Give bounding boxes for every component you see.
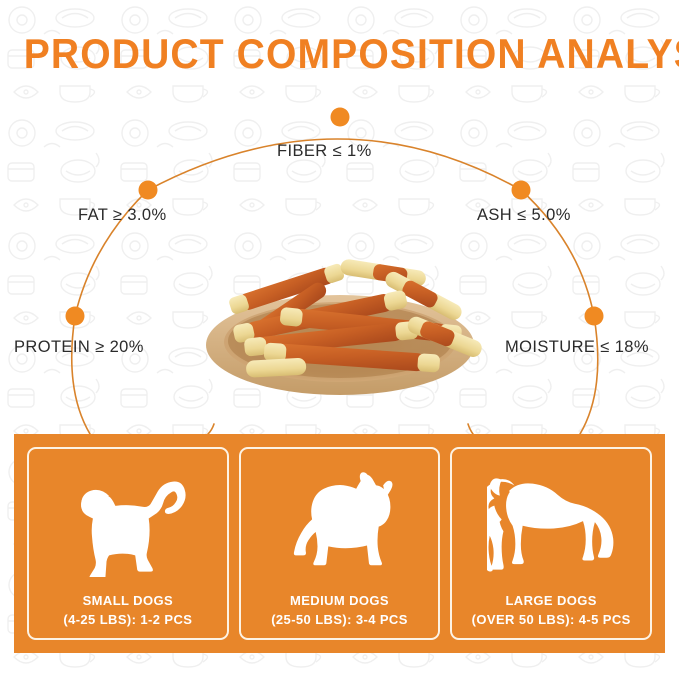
nutrient-label-fat: FAT ≥ 3.0% (78, 206, 167, 225)
nutrient-label-protein: PROTEIN ≥ 20% (14, 338, 144, 357)
page-title: PRODUCT COMPOSITION ANALYSIS (24, 30, 655, 78)
small-dog-icon (29, 449, 227, 591)
product-composition-infographic: PRODUCT COMPOSITION ANALYSIS (0, 0, 679, 679)
large-dog-icon (452, 449, 650, 591)
feeding-card-large-title: LARGE DOGS (505, 593, 596, 608)
feeding-card-small-text: SMALL DOGS (4-25 LBS): 1-2 PCS (63, 591, 192, 629)
feeding-card-medium: MEDIUM DOGS (25-50 LBS): 3-4 PCS (239, 447, 441, 640)
feeding-card-small: SMALL DOGS (4-25 LBS): 1-2 PCS (27, 447, 229, 640)
feeding-card-small-detail: (4-25 LBS): 1-2 PCS (63, 610, 192, 629)
nutrient-label-fiber: FIBER ≤ 1% (277, 142, 372, 161)
product-photo (168, 212, 512, 404)
feeding-card-medium-text: MEDIUM DOGS (25-50 LBS): 3-4 PCS (271, 591, 408, 629)
feeding-card-medium-detail: (25-50 LBS): 3-4 PCS (271, 610, 408, 629)
feeding-card-large: LARGE DOGS (OVER 50 LBS): 4-5 PCS (450, 447, 652, 640)
nutrient-label-ash: ASH ≤ 5.0% (477, 206, 571, 225)
feeding-card-medium-title: MEDIUM DOGS (290, 593, 389, 608)
medium-dog-icon (241, 449, 439, 591)
feeding-card-small-title: SMALL DOGS (83, 593, 173, 608)
nutrient-label-moisture: MOISTURE ≤ 18% (505, 338, 649, 357)
feeding-card-large-text: LARGE DOGS (OVER 50 LBS): 4-5 PCS (472, 591, 631, 629)
feeding-card-large-detail: (OVER 50 LBS): 4-5 PCS (472, 610, 631, 629)
feeding-guide-panel: SMALL DOGS (4-25 LBS): 1-2 PCS MEDIUM DO… (14, 434, 665, 653)
